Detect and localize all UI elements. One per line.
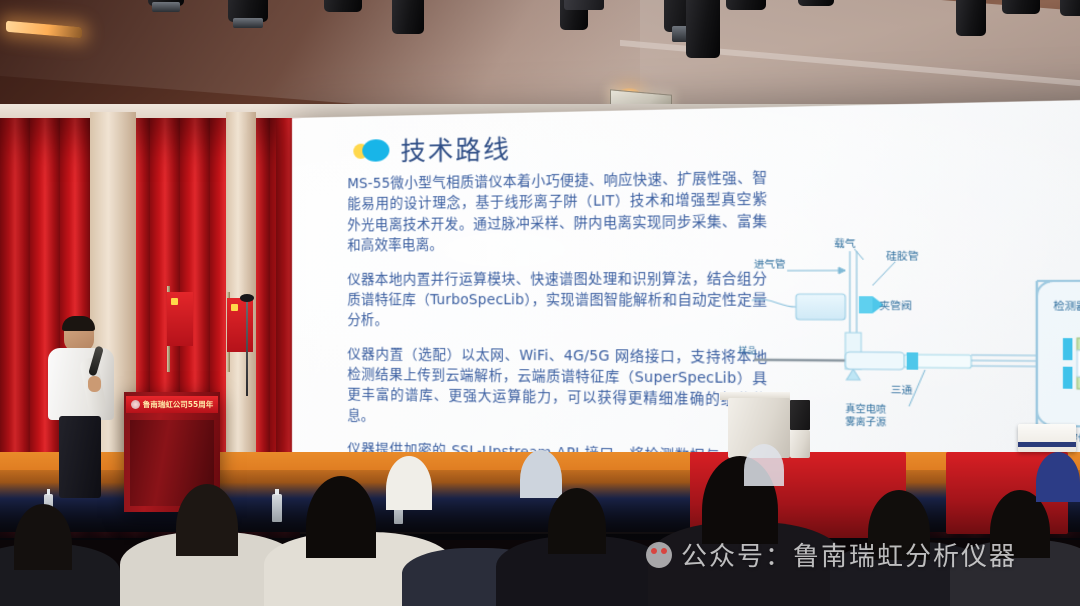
stage-light-fixture — [564, 0, 606, 36]
wechat-logo-icon — [646, 542, 672, 568]
company-logo-icon — [131, 400, 140, 409]
microphone-head-icon — [240, 294, 254, 302]
audience-person — [14, 504, 72, 570]
stage-light-fixture — [798, 0, 838, 12]
stage-light-fixture — [950, 0, 996, 36]
diagram-label-tee: 三通 — [891, 385, 913, 397]
slide-paragraph-2: 仪器本地内置并行运算模块、快速谱图处理和识别算法，结合组分质谱特征库（Turbo… — [347, 269, 767, 334]
conference-photo: 技术路线 MS-55微小型气相质谱仪本着小巧便捷、响应快速、扩展性强、智能易用的… — [0, 0, 1080, 606]
slide-title: 技术路线 — [401, 129, 512, 168]
audience-person — [520, 450, 562, 498]
stage-light-fixture — [1002, 0, 1044, 20]
audience-person — [386, 456, 432, 510]
stage-light-fixture — [228, 0, 272, 30]
diagram-label-detector: 检测器 — [1053, 300, 1080, 313]
diagram-label-carrier-gas: 载气 — [834, 237, 856, 250]
podium-banner: 鲁南瑞虹公司55周年 — [126, 396, 218, 413]
stage-light-fixture — [726, 0, 770, 16]
product-box — [1018, 424, 1076, 452]
stage-light-fixture — [148, 0, 188, 12]
diagram-label-vacuum-esi-1: 真空电喷 — [845, 402, 886, 416]
diagram-label-sample: 样品 — [739, 345, 757, 356]
diagram-label-inlet-tube: 进气管 — [754, 258, 786, 271]
water-bottle — [272, 494, 282, 522]
audience-person — [548, 488, 606, 554]
audience-person — [176, 484, 238, 556]
podium-banner-text: 鲁南瑞虹公司55周年 — [143, 399, 213, 410]
stage-light-fixture — [686, 0, 724, 64]
stage-light-fixture — [1060, 0, 1080, 22]
watermark: 公众号：鲁南瑞虹分析仪器 — [646, 536, 1017, 573]
slide-body-text: MS-55微小型气相质谱仪本着小巧便捷、响应快速、扩展性强、智能易用的设计理念，… — [347, 169, 767, 492]
slide-paragraph-3: 仪器内置（选配）以太网、WiFi、4G/5G 网络接口，支持将本地检测结果上传到… — [347, 345, 767, 434]
diagram-label-vacuum-esi-2: 雾离子源 — [845, 415, 886, 429]
stage-light-fixture — [392, 0, 428, 38]
projection-screen-slide: 技术路线 MS-55微小型气相质谱仪本着小巧便捷、响应快速、扩展性强、智能易用的… — [292, 94, 1080, 492]
diagram-label-clamp-valve: 夹管阀 — [879, 299, 912, 312]
watermark-text: 公众号：鲁南瑞虹分析仪器 — [681, 536, 1017, 573]
national-flag — [152, 286, 182, 372]
microphone-stand — [246, 300, 248, 396]
slide-paragraph-1: MS-55微小型气相质谱仪本着小巧便捷、响应快速、扩展性强、智能易用的设计理念，… — [347, 169, 767, 257]
national-flag — [212, 292, 242, 372]
diagram-label-silicone-tube: 硅胶管 — [886, 250, 919, 263]
audience-person — [306, 476, 376, 558]
audience — [0, 456, 1080, 606]
stage-light-fixture — [324, 0, 366, 20]
slide-title-group: 技术路线 — [353, 129, 511, 169]
audience-person — [1036, 452, 1080, 502]
ceiling — [0, 0, 1080, 120]
decorative-dot-blue-icon — [362, 139, 389, 162]
